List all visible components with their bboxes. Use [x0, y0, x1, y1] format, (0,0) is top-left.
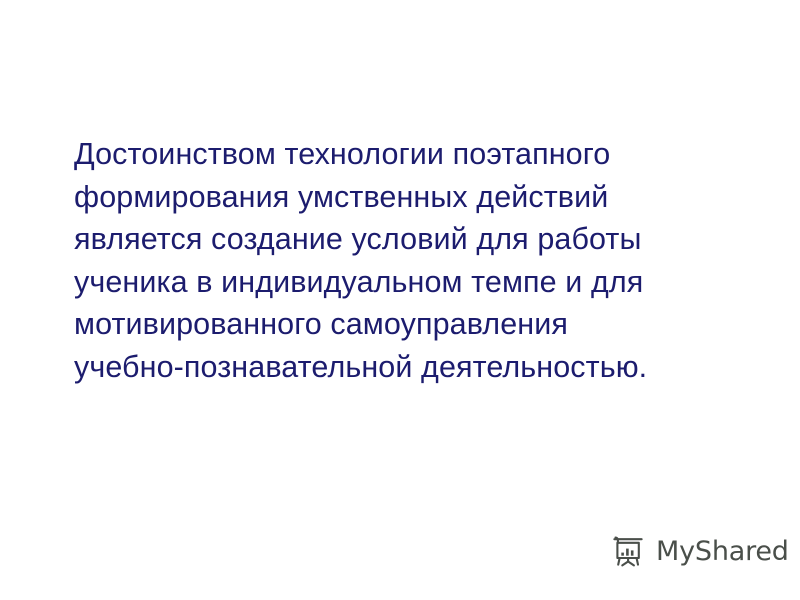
- myshared-watermark: MyShared: [609, 531, 789, 571]
- slide-canvas: Достоинством технологии поэтапного форми…: [0, 0, 800, 600]
- myshared-label: MyShared: [656, 538, 789, 565]
- body-paragraph: Достоинством технологии поэтапного форми…: [74, 133, 774, 388]
- flipchart-chart-icon: [609, 531, 649, 571]
- slide-body: Достоинством технологии поэтапного форми…: [74, 133, 774, 388]
